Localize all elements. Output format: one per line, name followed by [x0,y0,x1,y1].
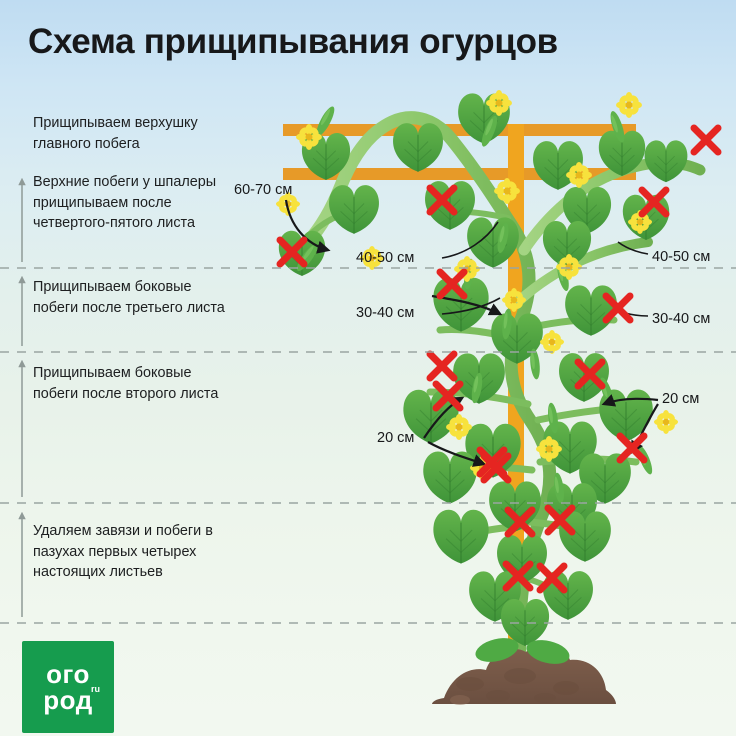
annotation-side-shoots-third-leaf: Прищипываем боковые побеги после третьег… [33,277,238,318]
annotation-upper-shoots-trellis: Верхние побеги у шпалеры прищипываем пос… [33,172,248,234]
infographic-canvas: Схема прищипывания огурцов Прищипываем в… [0,0,736,736]
annotation-side-shoots-second-leaf: Прищипываем боковые побеги после второго… [33,363,238,404]
logo-superscript: ru [91,684,100,694]
logo-line-2: род [22,685,114,716]
annotation-remove-ovaries-first-four: Удаляем завязи и побеги в пазухах первых… [33,521,238,583]
dimension-label-60-70: 60-70 см [234,182,292,198]
dimension-label-30-40-right: 30-40 см [652,311,710,327]
dimension-label-20-right: 20 см [662,391,699,407]
dimension-label-40-50-left: 40-50 см [356,250,414,266]
dimension-label-40-50-right: 40-50 см [652,249,710,265]
dimension-label-30-40-left: 30-40 см [356,305,414,321]
dimension-label-20-left: 20 см [377,430,414,446]
page-title: Схема прищипывания огурцов [28,22,558,62]
annotation-pinch-main-shoot-top: Прищипываем верхушку главного побега [33,113,248,154]
ogorod-logo[interactable]: ого род ru [22,641,114,733]
